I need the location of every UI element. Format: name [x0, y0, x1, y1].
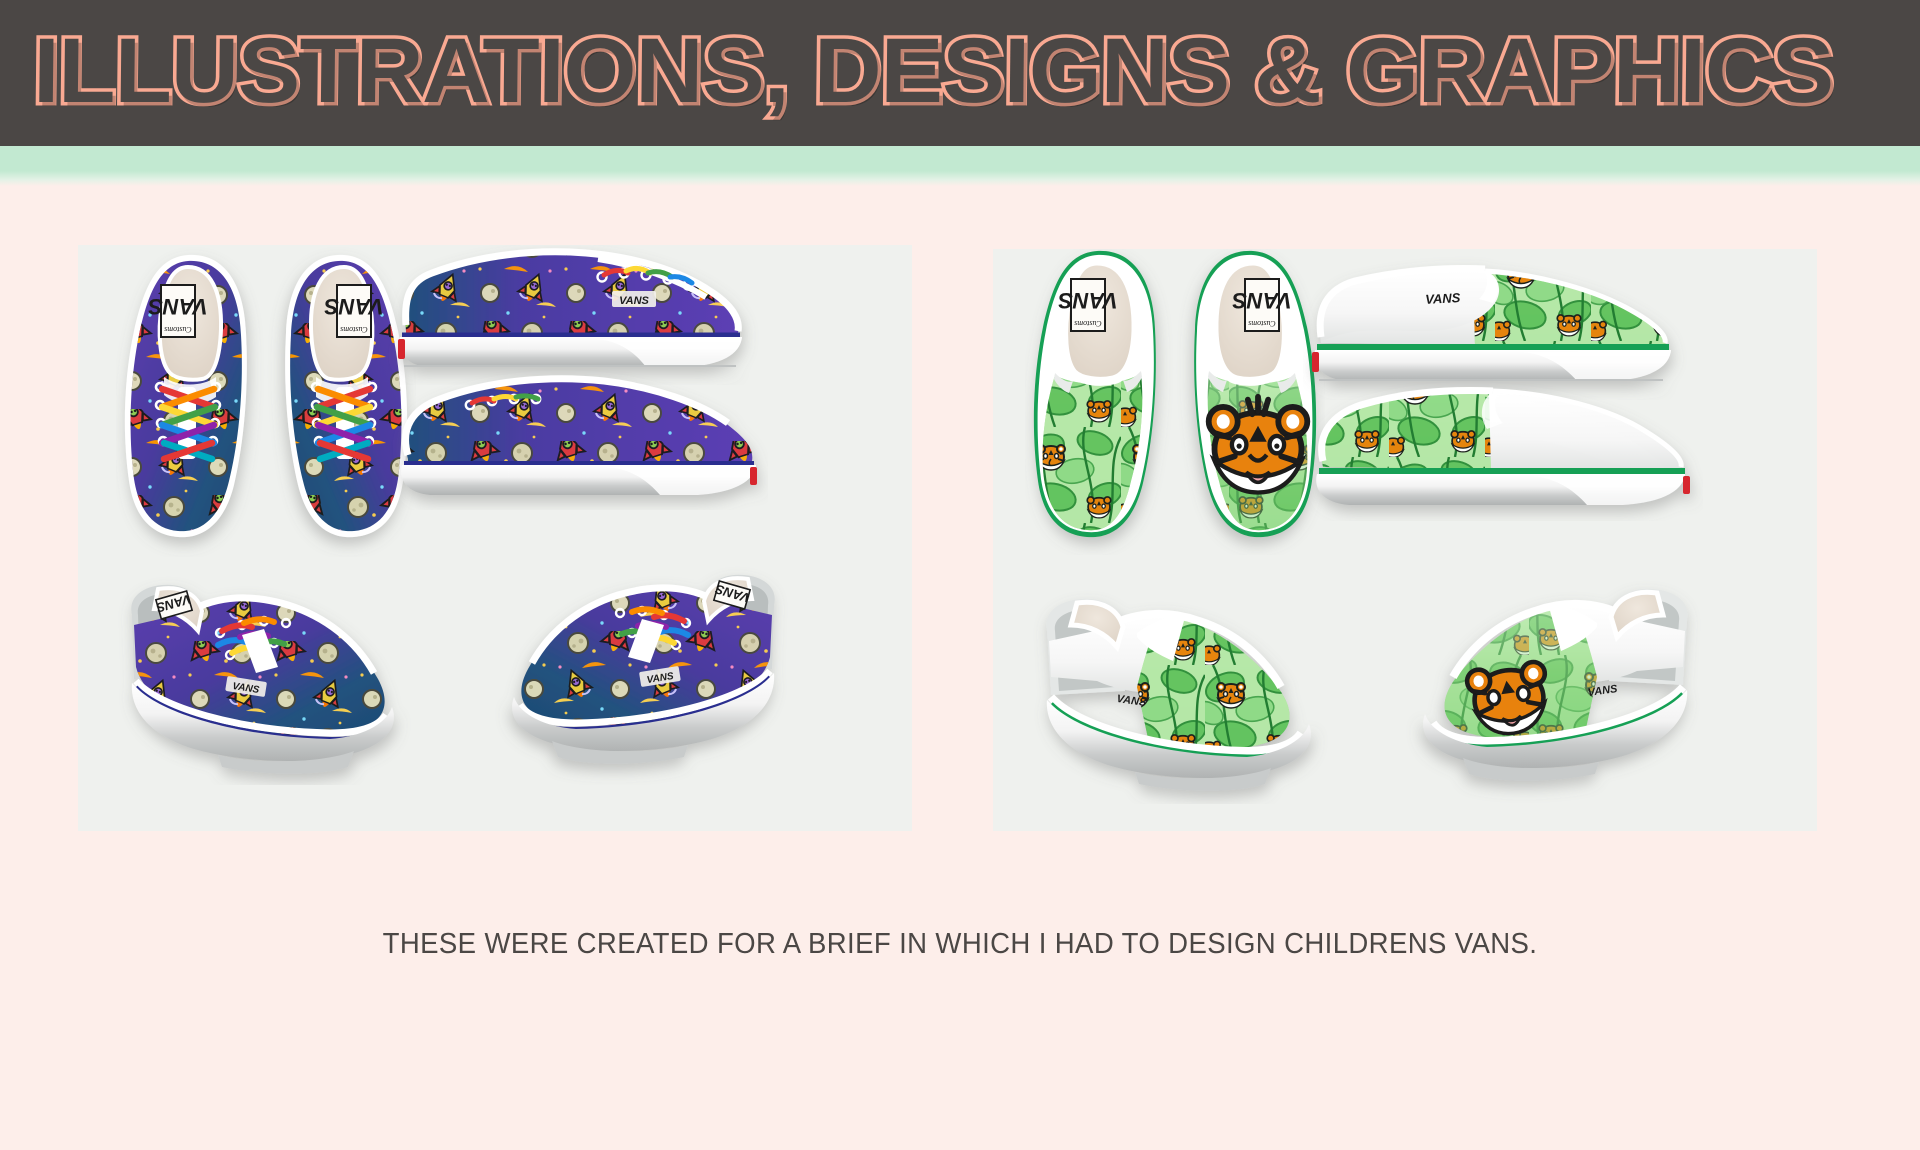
showcase-panel-tiger-vans: VANS Customs: [993, 249, 1817, 831]
shoe-tiger-top-pair: VANS Customs: [1025, 249, 1325, 555]
showcase-panel-space-vans: VANS Customs: [78, 245, 912, 831]
insole-subbrand-right: Customs: [340, 325, 368, 334]
portfolio-page: ILLUSTRATIONS, DESIGNS & GRAPHICS: [0, 0, 1920, 1150]
accent-band: [0, 146, 1920, 186]
insole-brand-right: VANS: [324, 294, 384, 319]
insole-subbrand-tiger-right: Customs: [1248, 319, 1276, 328]
insole-subbrand-left: Customs: [164, 325, 192, 334]
insole-subbrand-tiger-left: Customs: [1074, 319, 1102, 328]
shoe-space-top-pair: VANS Customs: [116, 245, 416, 557]
shoe-tiger-three-quarter-right: VANS: [1371, 559, 1721, 804]
insole-brand-tiger-left: VANS: [1058, 288, 1118, 313]
shoe-tiger-three-quarter-left: VANS: [1013, 569, 1353, 804]
page-title: ILLUSTRATIONS, DESIGNS & GRAPHICS: [33, 8, 1834, 135]
shoe-space-three-quarter-right: VANS: [458, 545, 808, 785]
shoe-space-side-inner: [378, 355, 768, 510]
header-band: ILLUSTRATIONS, DESIGNS & GRAPHICS: [0, 0, 1920, 146]
side-tag-brand: VANS: [619, 295, 649, 307]
project-caption: THESE WERE CREATED FOR A BRIEF IN WHICH …: [48, 928, 1872, 961]
shoe-tiger-side-inner: [1293, 361, 1703, 521]
side-tag-brand-tiger: VANS: [1425, 290, 1461, 307]
insole-brand-left: VANS: [148, 294, 208, 319]
insole-brand-tiger-right: VANS: [1232, 288, 1292, 313]
shoe-space-three-quarter-left: VANS: [98, 555, 438, 785]
